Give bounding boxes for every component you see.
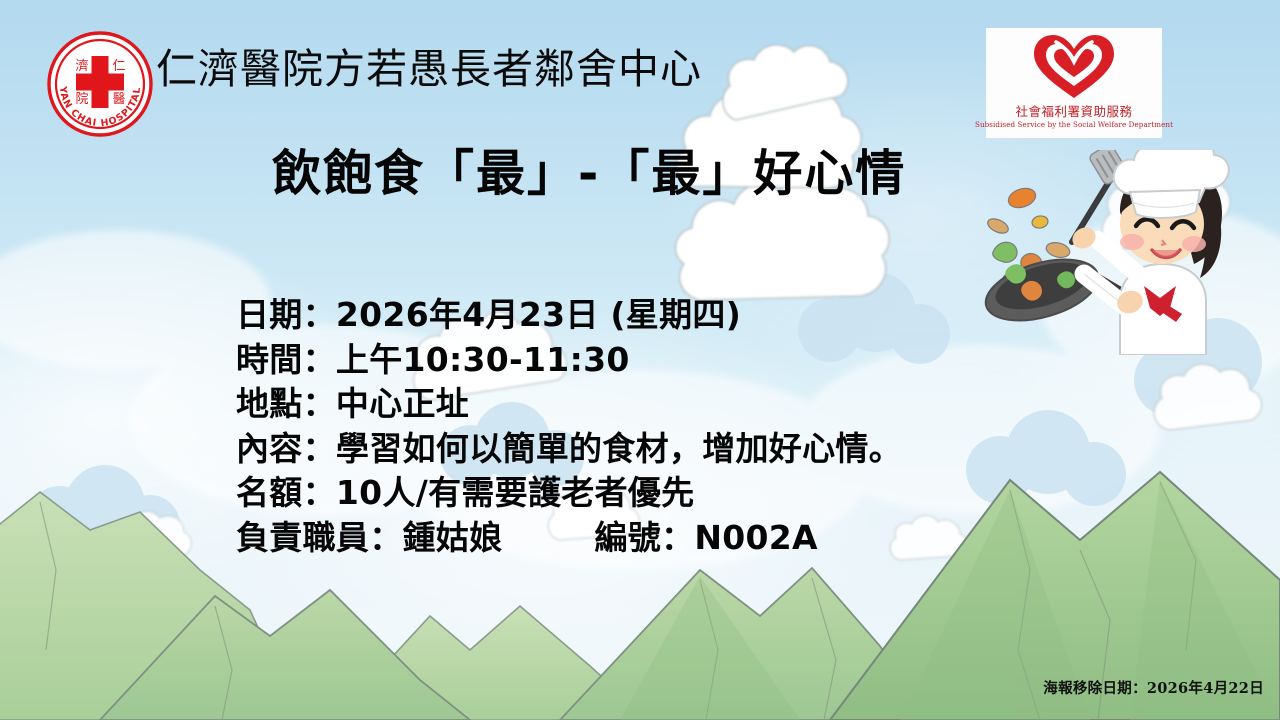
logo-char-bottom-left: 院 (75, 92, 88, 107)
detail-row-venue: 地點：中心正址 (236, 382, 902, 427)
swd-chinese-text: 社會福利署資助服務 (1015, 101, 1132, 120)
detail-value-quota: 10人/有需要護老者優先 (336, 473, 695, 512)
detail-label-code: 編號： (594, 518, 694, 557)
detail-label-date: 日期： (236, 295, 336, 334)
detail-value-time: 上午10:30-11:30 (336, 340, 630, 379)
organisation-name: 仁濟醫院方若愚長者鄰舍中心 (156, 48, 702, 91)
detail-label-content: 內容： (236, 429, 336, 468)
social-welfare-department-logo: 社會福利署資助服務 Subsidised Service by the Soci… (986, 28, 1162, 138)
detail-row-quota: 名額：10人/有需要護老者優先 (236, 471, 902, 516)
logo-char-top-right: 仁 (112, 59, 125, 74)
swd-heart-icon (1026, 32, 1122, 100)
detail-row-time: 時間：上午10:30-11:30 (236, 338, 902, 383)
yan-chai-hospital-logo: 濟 仁 院 醫 YAN CHAI HOSPITAL (46, 30, 154, 138)
detail-value-content: 學習如何以簡單的食材，增加好心情。 (336, 429, 902, 468)
detail-value-staff: 鍾姑娘 (403, 518, 503, 557)
swd-english-text: Subsidised Service by the Social Welfare… (975, 120, 1173, 129)
event-details: 日期：2026年4月23日 (星期四) 時間：上午10:30-11:30 地點：… (236, 293, 902, 560)
detail-label-staff: 負責職員： (236, 518, 403, 557)
detail-label-quota: 名額： (236, 473, 336, 512)
detail-row-date: 日期：2026年4月23日 (星期四) (236, 293, 902, 338)
detail-value-date: 2026年4月23日 (星期四) (336, 295, 741, 334)
poster-canvas: 濟 仁 院 醫 YAN CHAI HOSPITAL 仁濟醫院方若愚長者鄰舍中心 … (0, 0, 1280, 720)
logo-char-top-left: 濟 (75, 58, 88, 74)
detail-row-staff: 負責職員：鍾姑娘編號：N002A (236, 516, 902, 561)
detail-label-venue: 地點： (236, 384, 336, 423)
detail-label-time: 時間： (236, 340, 336, 379)
chef-illustration (980, 150, 1280, 355)
logo-char-bottom-right: 醫 (112, 92, 125, 107)
detail-row-content: 內容：學習如何以簡單的食材，增加好心情。 (236, 427, 902, 472)
poster-removal-date: 海報移除日期：2026年4月22日 (1043, 677, 1264, 698)
detail-value-code: N002A (694, 518, 818, 557)
page-title: 飲飽食「最」-「最」好心情 (272, 148, 906, 201)
detail-value-venue: 中心正址 (336, 384, 469, 423)
